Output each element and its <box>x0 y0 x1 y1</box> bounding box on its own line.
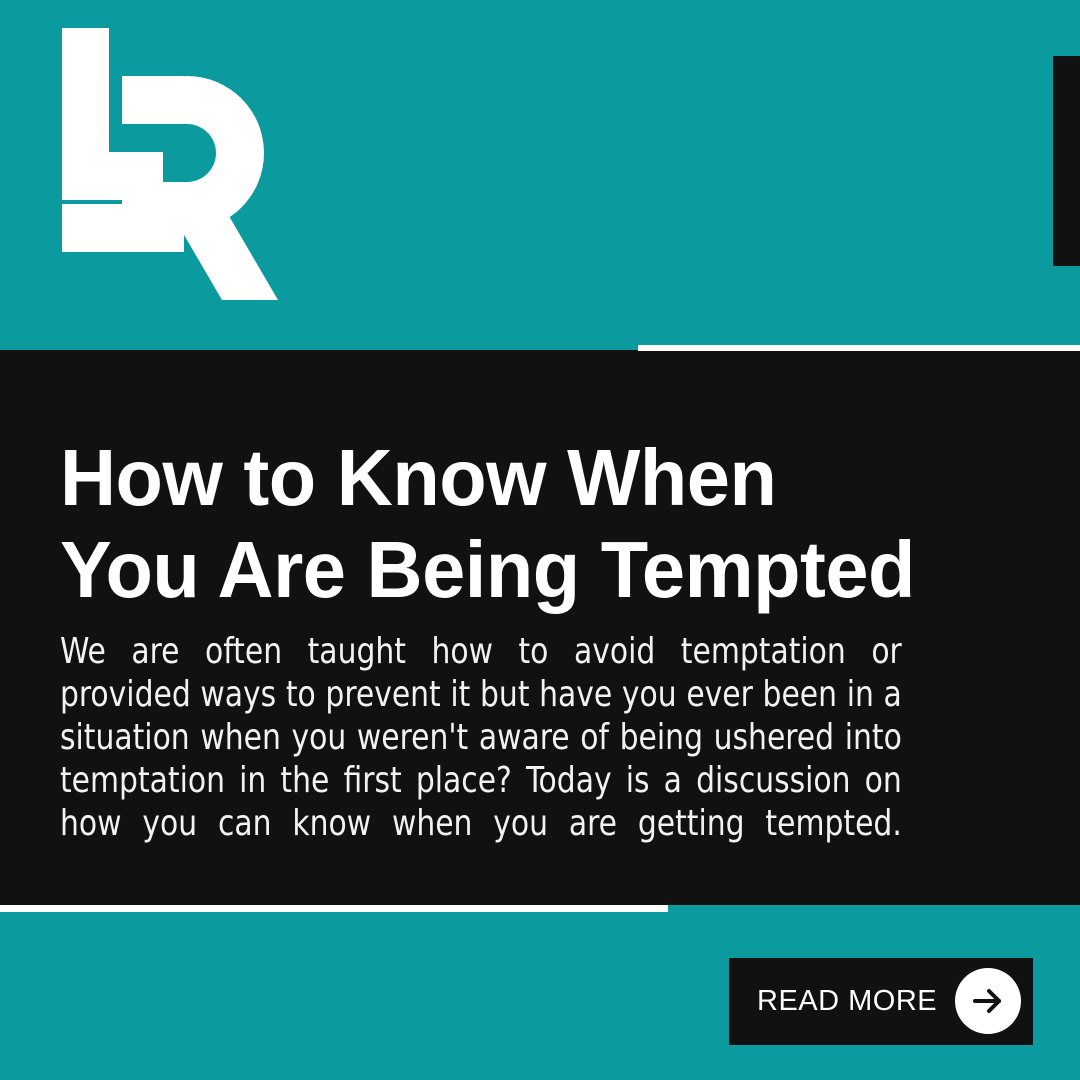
social-post-canvas: How to Know When You Are Being Tempted W… <box>0 0 1080 1080</box>
accent-block <box>1053 56 1080 266</box>
post-body-text: We are often taught how to avoid temptat… <box>60 630 902 888</box>
post-headline: How to Know When You Are Being Tempted <box>60 432 991 616</box>
divider-rule-bottom <box>0 905 668 912</box>
lr-monogram-logo <box>62 28 278 324</box>
divider-rule-top <box>638 345 1080 351</box>
arrow-right-icon[interactable] <box>955 968 1021 1034</box>
read-more-label: READ MORE <box>757 985 937 1018</box>
read-more-button[interactable]: READ MORE <box>729 958 1033 1045</box>
